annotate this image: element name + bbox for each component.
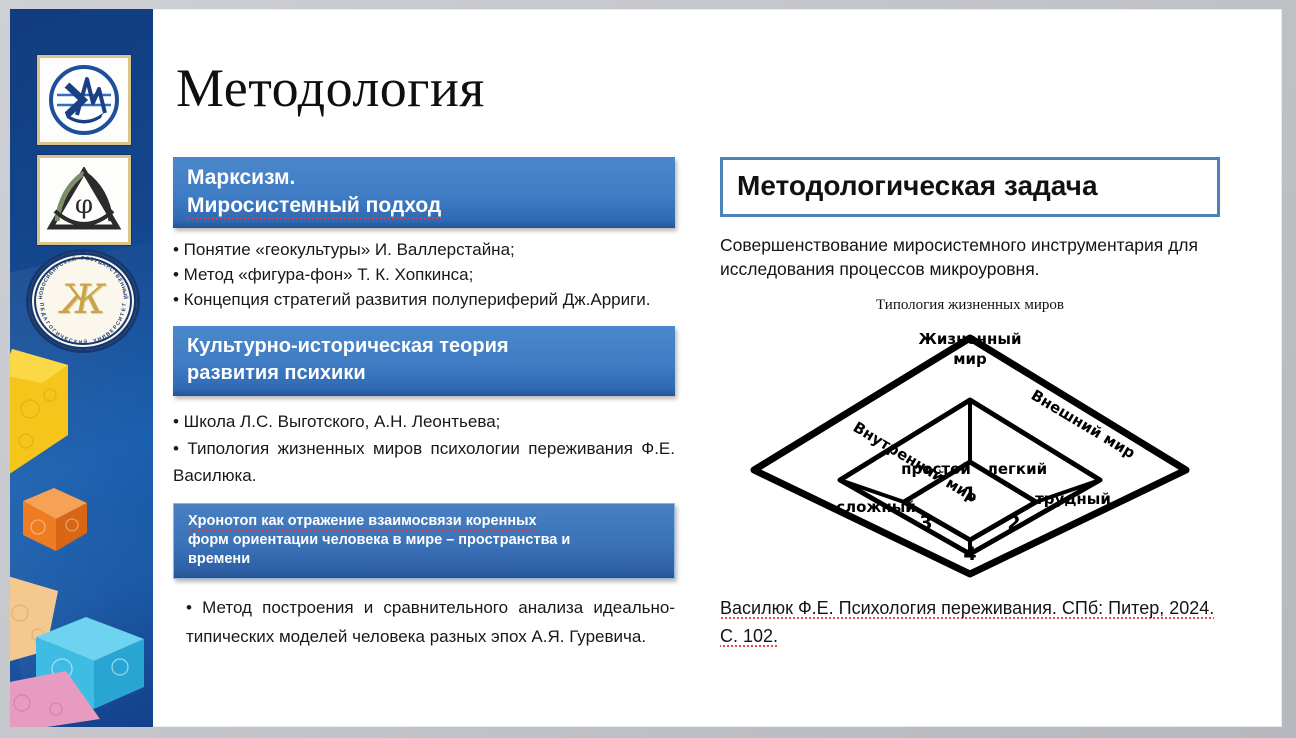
- left-content-column: Марксизм. Миросистемный подход • Понятие…: [173, 157, 675, 651]
- right-content-column: Методологическая задача Совершенствовани…: [720, 157, 1220, 650]
- institute-emblem-logo: [37, 55, 131, 145]
- task-description: Совершенствование миросистемного инструм…: [720, 233, 1220, 281]
- block-header-line: развития психики: [187, 360, 675, 387]
- phi-emblem-icon: φ: [47, 167, 121, 233]
- block-body-marxism: • Понятие «геокультуры» И. Валлерстайна;…: [173, 237, 675, 312]
- task-title: Методологическая задача: [737, 170, 1203, 202]
- life-worlds-typology-diagram: Жизненный мир Внутренний мир Внешний мир…: [740, 322, 1200, 584]
- block-header-line: форм ориентации человека в мире – простр…: [188, 531, 660, 550]
- nspu-seal-logo: НОВОСИБИРСКИЙ ГОСУДАРСТВЕННЫЙ ПЕДАГОГИЧЕ…: [26, 249, 140, 353]
- diagram-label-hard: трудный: [1035, 490, 1111, 508]
- block-header-line: времени: [188, 550, 660, 569]
- list-item: • Школа Л.С. Выготского, А.Н. Леонтьева;: [173, 408, 675, 435]
- cube-pink: [10, 665, 104, 727]
- diagram-label-outer-world: Внешний мир: [1028, 386, 1139, 462]
- diagram-label-easy: легкий: [987, 460, 1047, 478]
- list-item: • Метод построения и сравнительного анал…: [186, 593, 675, 651]
- methodological-task-box: Методологическая задача: [720, 157, 1220, 217]
- block-body-cultural-historical: • Школа Л.С. Выготского, А.Н. Леонтьева;…: [173, 408, 675, 489]
- list-item: • Типология жизненных миров психологии п…: [173, 435, 675, 489]
- block-header-line: Миросистемный подход: [187, 194, 441, 221]
- institute-emblem-icon: [49, 65, 119, 135]
- diagram-label-top-line2: мир: [953, 350, 987, 368]
- diagram-label-complex: сложный: [836, 498, 916, 516]
- block-header-line: Марксизм.: [187, 164, 675, 192]
- block-header-line: Хронотоп как отражение взаимосвязи корен…: [188, 513, 537, 533]
- decorative-sidebar: φ НОВОСИБИРСКИЙ ГОСУДАРСТВЕННЫЙ ПЕДАГОГИ…: [10, 9, 153, 727]
- cube-orange: [18, 483, 92, 555]
- source-citation-text: Василюк Ф.Е. Психология переживания. СПб…: [720, 598, 1214, 650]
- cube-yellow: [10, 339, 84, 489]
- diagram-quadrant-2: 2: [1007, 512, 1020, 534]
- diagram-label-simple: простой: [901, 460, 971, 478]
- diagram-quadrant-3: 3: [919, 512, 932, 534]
- list-item: • Концепция стратегий развития полупериф…: [173, 287, 675, 312]
- diagram-quadrant-1: 1: [963, 483, 976, 505]
- phi-emblem-logo: φ: [37, 155, 131, 245]
- slide-canvas: φ НОВОСИБИРСКИЙ ГОСУДАРСТВЕННЫЙ ПЕДАГОГИ…: [10, 9, 1282, 727]
- list-item: • Понятие «геокультуры» И. Валлерстайна;: [173, 237, 675, 262]
- diagram-label-top-line1: Жизненный: [919, 330, 1022, 348]
- diagram-quadrant-4: 4: [963, 543, 976, 565]
- block-header-cultural-historical: Культурно-историческая теория развития п…: [173, 326, 675, 396]
- block-header-marxism: Марксизм. Миросистемный подход: [173, 157, 675, 228]
- source-citation: Василюк Ф.Е. Психология переживания. СПб…: [720, 594, 1220, 650]
- block-body-chronotope: • Метод построения и сравнительного анал…: [173, 593, 675, 651]
- seal-monogram: Ж: [61, 277, 106, 323]
- slide-frame: φ НОВОСИБИРСКИЙ ГОСУДАРСТВЕННЫЙ ПЕДАГОГИ…: [0, 0, 1296, 738]
- page-title: Методология: [176, 57, 485, 119]
- list-item: • Метод «фигура-фон» Т. К. Хопкинса;: [173, 262, 675, 287]
- block-header-chronotope: Хронотоп как отражение взаимосвязи корен…: [173, 503, 675, 579]
- figure-caption: Типология жизненных миров: [720, 297, 1220, 314]
- svg-text:φ: φ: [75, 190, 93, 220]
- block-header-line: Культурно-историческая теория: [187, 333, 675, 360]
